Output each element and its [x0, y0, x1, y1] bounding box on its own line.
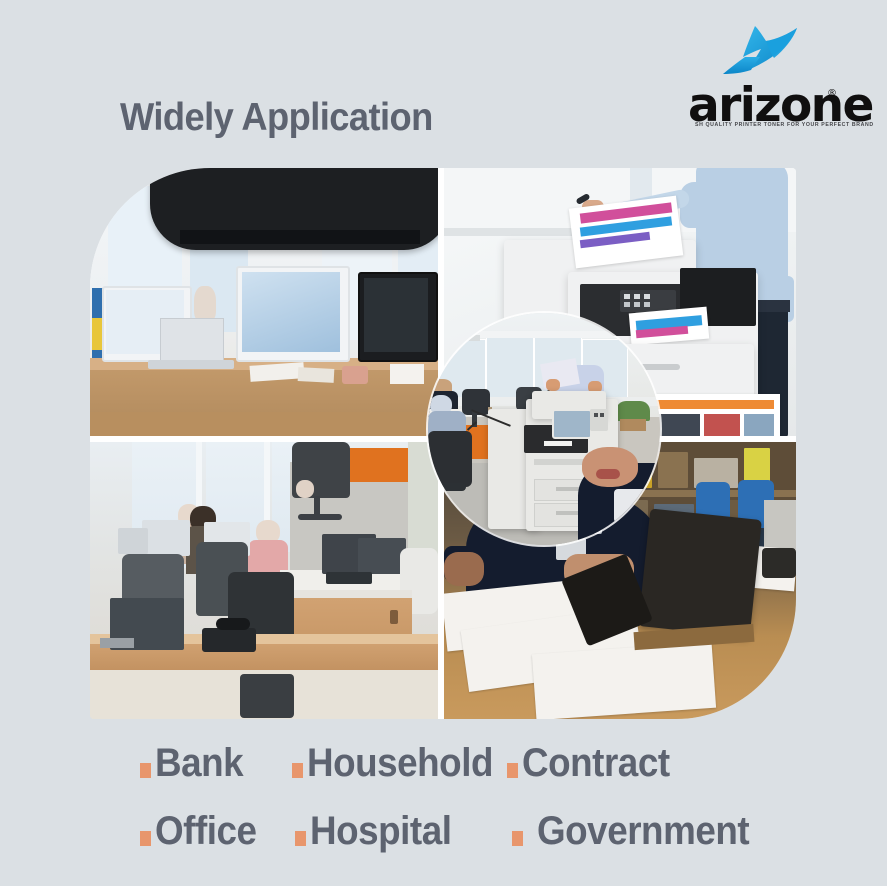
bullet-square-icon [512, 831, 523, 846]
application-item-government[interactable]: Government [512, 811, 768, 851]
collage-image-top-left [90, 168, 438, 436]
logo-tagline: SH QUALITY PRINTER TONER FOR YOUR PERFEC… [695, 122, 874, 128]
application-label: Contract [522, 743, 670, 783]
application-item-household[interactable]: Household [292, 743, 507, 783]
bird-icon [714, 24, 810, 86]
application-item-bank[interactable]: Bank [140, 743, 292, 783]
application-label: Household [307, 743, 493, 783]
collage-center-circle [428, 313, 660, 545]
bullet-square-icon [295, 831, 306, 846]
page-title: Widely Application [120, 96, 433, 140]
bullet-square-icon [292, 763, 303, 778]
application-item-contract[interactable]: Contract [507, 743, 682, 783]
application-label: Bank [155, 743, 243, 783]
registered-trademark-mark: ® [827, 88, 837, 99]
image-collage [90, 168, 796, 719]
application-poster: Widely Application arizone ® SH QUALITY … [0, 0, 887, 886]
application-item-hospital[interactable]: Hospital [295, 811, 512, 851]
application-label: Office [155, 811, 257, 851]
arizone-logo[interactable]: arizone ® SH QUALITY PRINTER TONER FOR Y… [688, 24, 848, 136]
bullet-square-icon [140, 763, 151, 778]
application-row-1: Bank Household Contract [140, 732, 880, 794]
bullet-square-icon [140, 831, 151, 846]
application-item-office[interactable]: Office [140, 811, 295, 851]
application-label: Government [537, 811, 749, 851]
application-list: Bank Household Contract Office Hospital [0, 726, 887, 866]
application-label: Hospital [310, 811, 451, 851]
bullet-square-icon [507, 763, 518, 778]
collage-image-bottom-left [90, 442, 438, 719]
application-row-2: Office Hospital Government [140, 800, 880, 862]
